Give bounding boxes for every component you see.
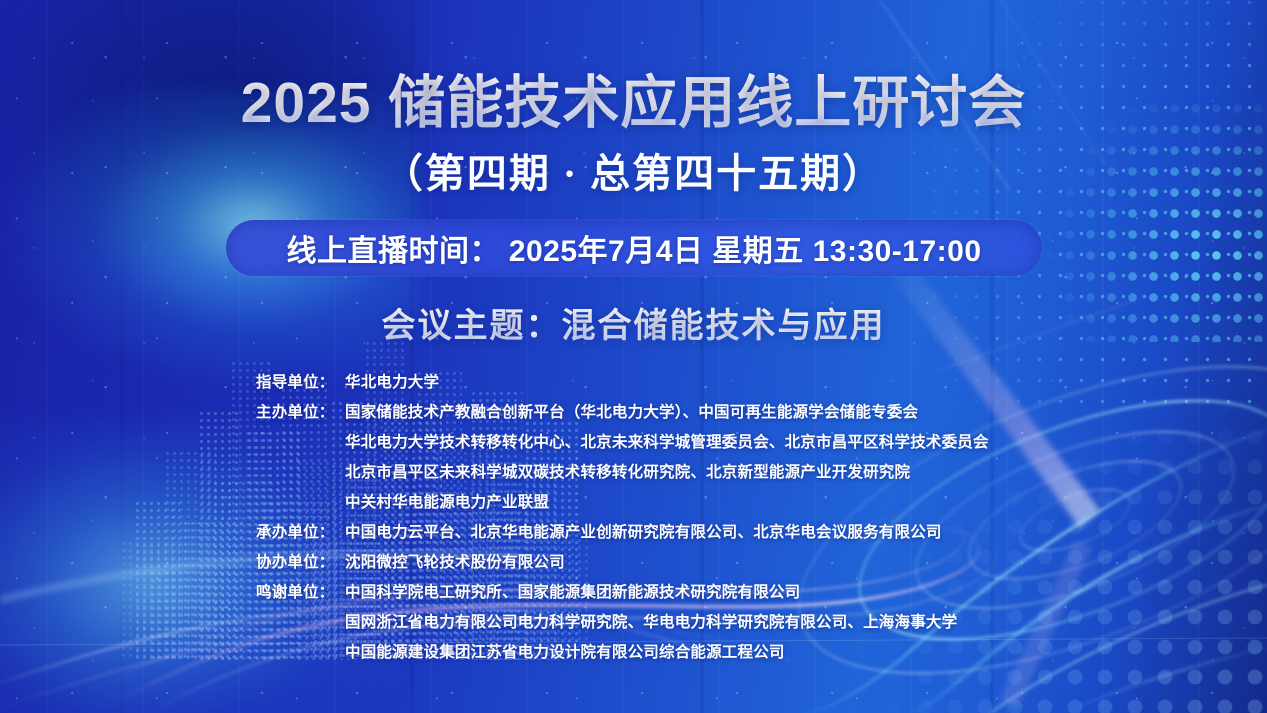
organization-value: 中国电力云平台、北京华电能源产业创新研究院有限公司、北京华电会议服务有限公司 [345,518,942,548]
organization-label: 承办单位： [256,518,345,548]
organization-value: 华北电力大学技术转移转化中心、北京未来科学城管理委员会、北京市昌平区科学技术委员… [345,428,989,458]
organization-label: 鸣谢单位： [256,578,345,608]
livestream-time-banner: 线上直播时间： 2025年7月4日 星期五 13:30-17:00 [226,220,1042,276]
livestream-time-text: 线上直播时间： 2025年7月4日 星期五 13:30-17:00 [286,226,981,270]
organization-value: 北京市昌平区未来科学城双碳技术转移转化研究院、北京新型能源产业开发研究院 [345,458,910,488]
organization-label: 协办单位： [256,548,345,578]
organization-row: 指导单位：华北电力大学 [256,368,1056,398]
organization-value: 中关村华电能源电力产业联盟 [345,488,549,518]
page-title: 2025 储能技术应用线上研讨会 [0,57,1267,139]
organization-row: 鸣谢单位：中国科学院电工研究所、国家能源集团新能源技术研究院有限公司 [256,578,1056,608]
organization-label: 主办单位： [256,398,345,428]
organization-row: 鸣谢单位：中国能源建设集团江苏省电力设计院有限公司综合能源工程公司 [256,638,1056,668]
organization-value: 华北电力大学 [345,368,439,398]
poster-canvas: 2025 储能技术应用线上研讨会 （第四期 · 总第四十五期） 线上直播时间： … [0,0,1267,713]
poster-content: 2025 储能技术应用线上研讨会 （第四期 · 总第四十五期） 线上直播时间： … [0,0,1267,713]
organization-value: 沈阳微控飞轮技术股份有限公司 [345,548,565,578]
conference-theme: 会议主题：混合储能技术与应用 [0,298,1267,347]
organization-row: 主办单位：华北电力大学技术转移转化中心、北京未来科学城管理委员会、北京市昌平区科… [256,428,1056,458]
organization-row: 主办单位：北京市昌平区未来科学城双碳技术转移转化研究院、北京新型能源产业开发研究… [256,458,1056,488]
page-subtitle: （第四期 · 总第四十五期） [0,141,1267,199]
organization-value: 国家储能技术产教融合创新平台（华北电力大学）、中国可再生能源学会储能专委会 [345,398,918,428]
organization-value: 中国科学院电工研究所、国家能源集团新能源技术研究院有限公司 [345,578,800,608]
organization-value: 中国能源建设集团江苏省电力设计院有限公司综合能源工程公司 [345,638,785,668]
organization-value: 国网浙江省电力有限公司电力科学研究院、华电电力科学研究院有限公司、上海海事大学 [345,608,957,638]
organization-row: 主办单位：国家储能技术产教融合创新平台（华北电力大学）、中国可再生能源学会储能专… [256,398,1056,428]
organization-label: 指导单位： [256,368,345,398]
organization-row: 主办单位：中关村华电能源电力产业联盟 [256,488,1056,518]
organization-list: 指导单位：华北电力大学主办单位：国家储能技术产教融合创新平台（华北电力大学）、中… [256,368,1056,668]
organization-row: 鸣谢单位：国网浙江省电力有限公司电力科学研究院、华电电力科学研究院有限公司、上海… [256,608,1056,638]
organization-row: 承办单位：中国电力云平台、北京华电能源产业创新研究院有限公司、北京华电会议服务有… [256,518,1056,548]
organization-row: 协办单位：沈阳微控飞轮技术股份有限公司 [256,548,1056,578]
